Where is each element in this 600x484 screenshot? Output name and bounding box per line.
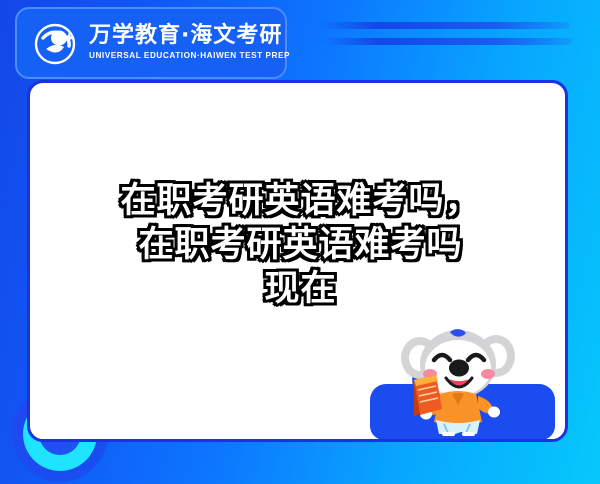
speed-line-1-icon [320,22,570,29]
brand-name-en: UNIVERSAL EDUCATION·HAIWEN TEST PREP [89,52,290,60]
koala-mascot-icon [392,324,532,436]
page-title: 在职考研英语难考吗， 在职考研英语难考吗 现在 [30,179,568,311]
brand-name-cn: 万学教育·海文考研 [89,25,290,47]
content-card: 在职考研英语难考吗， 在职考研英语难考吗 现在 [27,80,568,442]
swoosh-wave-logo-icon [33,20,79,66]
brand-logo-text: 万学教育·海文考研 UNIVERSAL EDUCATION·HAIWEN TES… [89,25,290,60]
speed-line-2-icon [322,38,572,45]
koala-mascot [370,320,555,440]
poster-canvas: 在职考研英语难考吗， 在职考研英语难考吗 现在 [0,0,600,484]
brand-logo-badge[interactable]: 万学教育·海文考研 UNIVERSAL EDUCATION·HAIWEN TES… [15,7,287,79]
